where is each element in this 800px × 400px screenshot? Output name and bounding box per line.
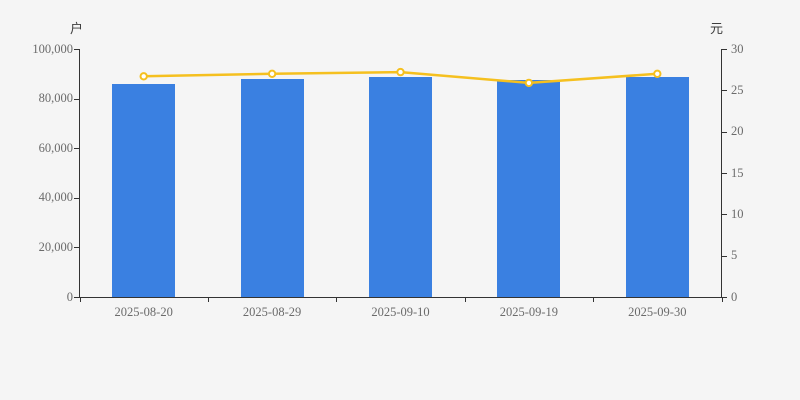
right-axis-tick-mark: [722, 49, 727, 50]
left-axis-tick-mark: [74, 148, 79, 149]
right-axis-tick-mark: [722, 214, 727, 215]
right-axis-tick-mark: [722, 132, 727, 133]
x-axis-tick-mark: [80, 297, 81, 302]
line-data-point[interactable]: [269, 71, 275, 77]
bar[interactable]: [241, 79, 304, 297]
x-axis-category-label: 2025-09-19: [500, 306, 558, 319]
x-axis-category-label: 2025-08-20: [115, 306, 173, 319]
bar[interactable]: [497, 80, 560, 297]
line-data-point[interactable]: [141, 73, 147, 79]
x-axis-tick-mark: [593, 297, 594, 302]
right-axis-tick-label: 15: [731, 167, 744, 180]
right-axis-tick-label: 30: [731, 43, 744, 56]
x-axis-tick-mark: [465, 297, 466, 302]
x-axis-category-label: 2025-08-29: [243, 306, 301, 319]
left-axis-tick-mark: [74, 49, 79, 50]
right-axis-tick-label: 0: [731, 291, 737, 304]
left-axis-tick-mark: [74, 247, 79, 248]
x-axis-tick-mark: [336, 297, 337, 302]
left-axis-tick-label: 100,000: [32, 43, 73, 56]
bar[interactable]: [112, 84, 175, 297]
left-axis-tick-label: 80,000: [39, 92, 73, 105]
bar[interactable]: [369, 77, 432, 297]
left-axis-tick-mark: [74, 99, 79, 100]
left-axis-tick-label: 20,000: [39, 241, 73, 254]
left-axis-line: [79, 49, 80, 298]
left-axis-tick-label: 60,000: [39, 142, 73, 155]
line-data-point[interactable]: [397, 69, 403, 75]
left-axis-tick-label: 0: [67, 291, 73, 304]
right-axis-tick-label: 5: [731, 249, 737, 262]
left-axis-tick-mark: [74, 297, 79, 298]
x-axis-tick-mark: [208, 297, 209, 302]
left-axis-title: 户: [70, 18, 83, 37]
x-axis-tick-mark: [722, 297, 723, 302]
right-axis-tick-label: 10: [731, 208, 744, 221]
chart-container: 户 元 020,00040,00060,00080,000100,000 051…: [0, 0, 800, 400]
x-axis-line: [79, 297, 722, 298]
right-axis-tick-mark: [722, 173, 727, 174]
right-axis-title: 元: [710, 18, 723, 37]
right-axis-tick-mark: [722, 256, 727, 257]
right-axis-tick-label: 25: [731, 84, 744, 97]
bar[interactable]: [626, 77, 689, 297]
x-axis-category-label: 2025-09-10: [371, 306, 429, 319]
left-axis-tick-label: 40,000: [39, 191, 73, 204]
right-axis-tick-mark: [722, 90, 727, 91]
right-axis-tick-label: 20: [731, 125, 744, 138]
left-axis-tick-mark: [74, 198, 79, 199]
x-axis-category-label: 2025-09-30: [628, 306, 686, 319]
